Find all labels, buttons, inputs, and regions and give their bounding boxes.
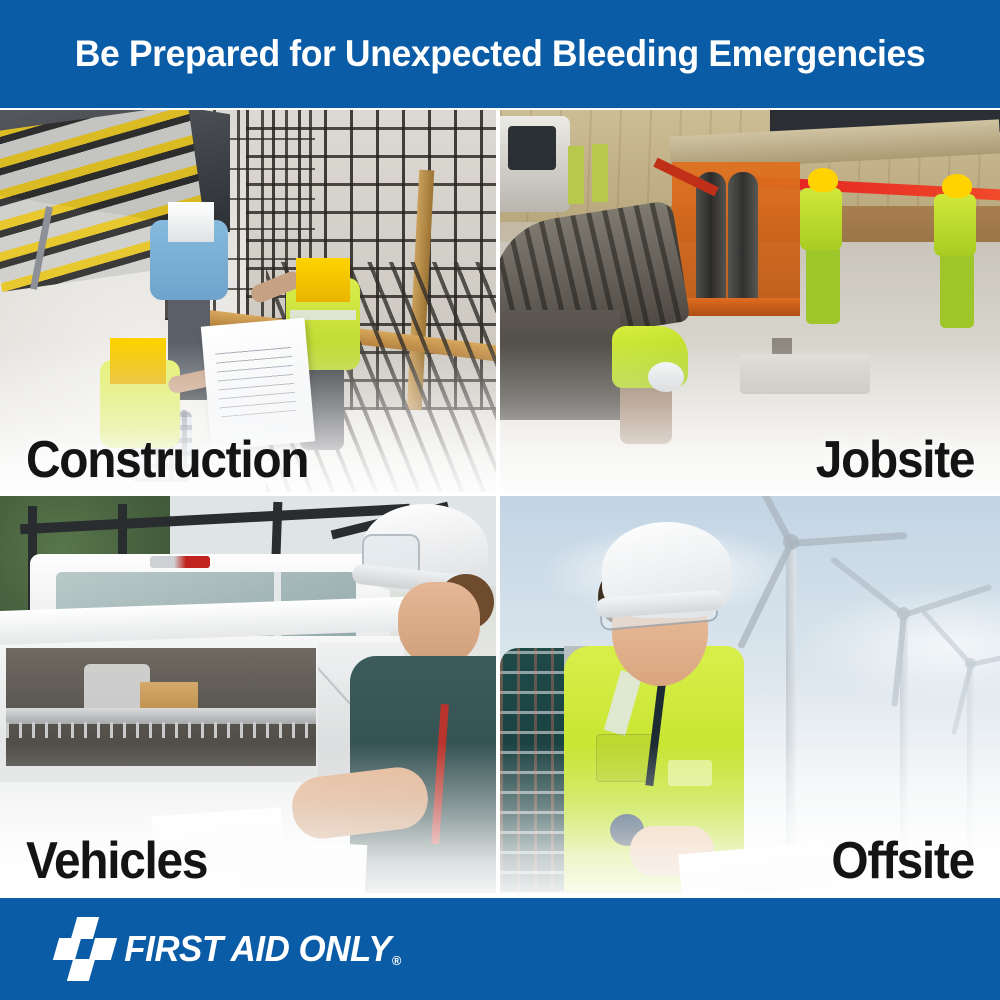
brand-wordmark-text: FIRST AID ONLY xyxy=(124,928,391,969)
footer-bar: FIRST AID ONLY® xyxy=(0,898,1000,1000)
panel-offsite[interactable]: Offsite xyxy=(500,496,1000,893)
page-title: Be Prepared for Unexpected Bleeding Emer… xyxy=(75,33,926,75)
poster: Be Prepared for Unexpected Bleeding Emer… xyxy=(0,0,1000,1000)
panel-caption-vehicles: Vehicles xyxy=(26,835,207,887)
registered-mark: ® xyxy=(392,953,401,968)
photo-grid: Construction xyxy=(0,110,1000,893)
first-aid-cross-icon xyxy=(48,917,110,981)
brand-wordmark: FIRST AID ONLY® xyxy=(124,928,400,970)
panel-jobsite[interactable]: Jobsite xyxy=(500,110,1000,492)
panel-caption-offsite: Offsite xyxy=(832,835,974,887)
panel-caption-jobsite: Jobsite xyxy=(816,434,974,486)
brand-logo[interactable]: FIRST AID ONLY® xyxy=(48,917,404,981)
header-banner: Be Prepared for Unexpected Bleeding Emer… xyxy=(0,0,1000,108)
panel-construction[interactable]: Construction xyxy=(0,110,496,492)
panel-caption-construction: Construction xyxy=(26,434,308,486)
panel-vehicles[interactable]: Vehicles xyxy=(0,496,496,893)
